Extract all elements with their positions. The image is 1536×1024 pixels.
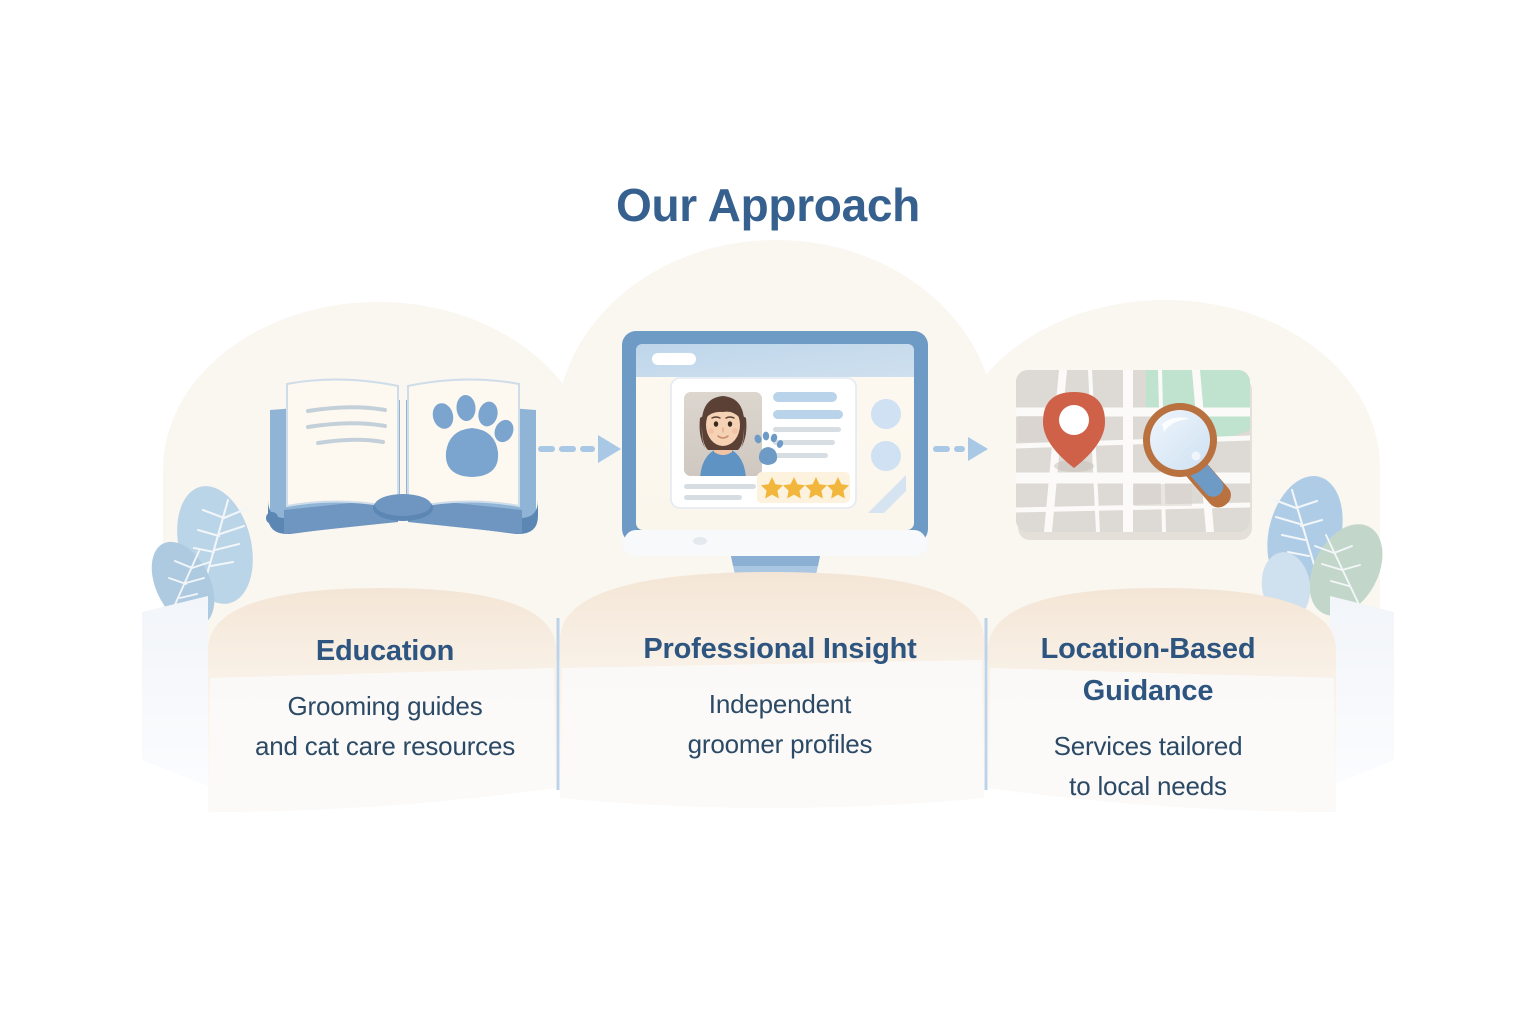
panel-education-heading: Education [205, 630, 565, 672]
panel-location-body-line-2: to local needs [968, 766, 1328, 806]
panel-location-text: Location-Based Guidance Services tailore… [968, 628, 1328, 807]
star-rating [757, 472, 850, 503]
infographic-canvas: Our Approach Education Grooming guides a… [0, 0, 1536, 1024]
panel-education-body-line-2: and cat care resources [205, 726, 565, 766]
screen-circle-2 [871, 441, 901, 471]
map-card-icon [1016, 370, 1252, 540]
panel-location-heading-line-2: Guidance [968, 670, 1328, 712]
illustration-layer [0, 0, 1536, 1024]
screen-circle-1 [871, 399, 901, 429]
profile-subtitle-line [773, 410, 843, 419]
page-title: Our Approach [0, 178, 1536, 232]
panel-professional-text: Professional Insight Independent groomer… [600, 628, 960, 765]
panel-location-heading-line-1: Location-Based [968, 628, 1328, 670]
address-bar-pill [652, 353, 696, 365]
groomer-profile-card [671, 378, 856, 508]
panel-professional-body-line-2: groomer profiles [600, 724, 960, 764]
panel-education-body-line-1: Grooming guides [205, 686, 565, 726]
panel-location-heading: Location-Based Guidance [968, 628, 1328, 712]
panel-location-body: Services tailored to local needs [968, 726, 1328, 807]
profile-name-line [773, 392, 837, 402]
panel-location-body-line-1: Services tailored [968, 726, 1328, 766]
panel-professional-heading: Professional Insight [600, 628, 960, 670]
groomer-avatar [684, 392, 762, 480]
panel-professional-body-line-1: Independent [600, 684, 960, 724]
panel-professional-body: Independent groomer profiles [600, 684, 960, 765]
panel-education-text: Education Grooming guides and cat care r… [205, 630, 565, 767]
panel-education-body: Grooming guides and cat care resources [205, 686, 565, 767]
